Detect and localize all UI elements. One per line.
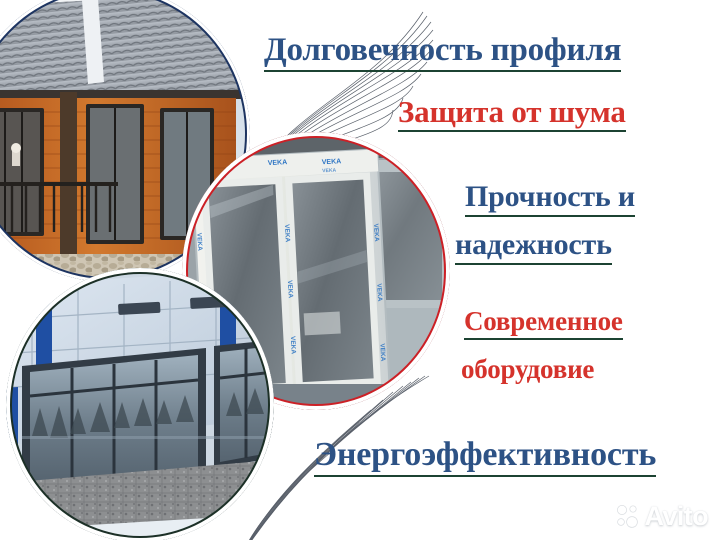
headline-modern: Современное (464, 308, 623, 340)
headline-equipment-text: оборудовие (461, 356, 594, 383)
headline-noise-protection-text: Защита от шума (398, 96, 626, 127)
headline-strength-text: Прочность и (465, 182, 635, 212)
headline-noise-protection: Защита от шума (398, 96, 626, 132)
svg-text:VEKA: VEKA (195, 233, 203, 252)
headline-strength: Прочность и (465, 182, 635, 217)
poster-canvas: VEKA VEKA VEKA VEKA VEKA VEKA VEKA VEKA … (0, 0, 720, 540)
headline-energy-efficiency: Энергоэффективность (314, 438, 656, 477)
headline-reliability: надежность (455, 230, 612, 265)
avito-dots-icon (615, 504, 641, 530)
headline-durability-text: Долговечность профиля (264, 34, 621, 67)
building-facade-image (6, 268, 274, 540)
headline-modern-text: Современное (464, 308, 623, 335)
headline-durability: Долговечность профиля (264, 34, 621, 72)
headline-stack: Долговечность профиля Защита от шума Про… (258, 0, 720, 540)
avito-watermark: Avito (615, 501, 709, 532)
building-facade-photo (6, 268, 274, 540)
headline-equipment: оборудовие (461, 356, 594, 383)
avito-wordmark: Avito (645, 501, 709, 532)
headline-reliability-text: надежность (455, 230, 612, 260)
headline-energy-efficiency-text: Энергоэффективность (314, 438, 656, 472)
